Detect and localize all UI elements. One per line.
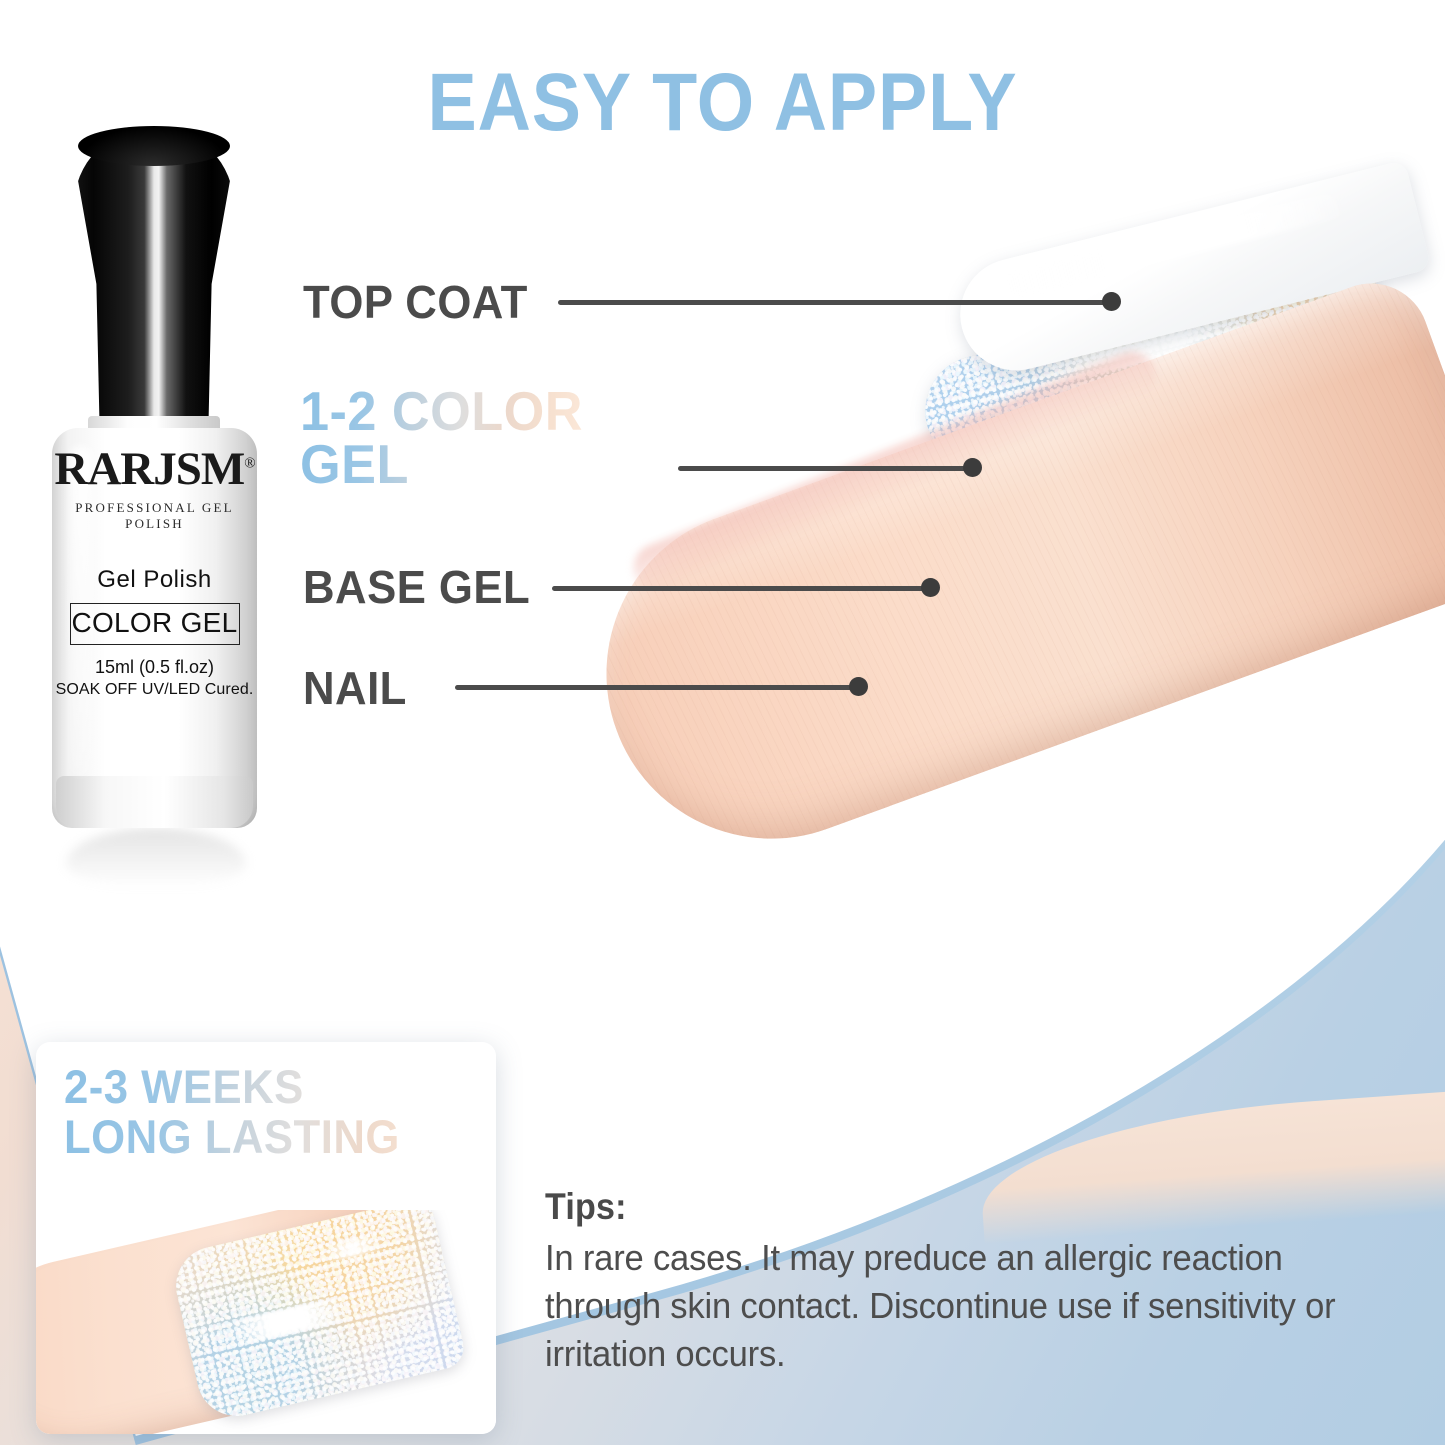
label-color-gel: 1-2 COLOR GEL [300, 385, 583, 492]
leader-line-base-gel [552, 586, 930, 591]
brand-tagline: PROFESSIONAL GEL POLISH [52, 500, 257, 532]
volume-text: 15ml (0.5 fl.oz) [52, 657, 257, 678]
registered-mark-icon: ® [244, 455, 254, 471]
infographic-canvas: EASY TO APPLY RARJSM® PROFESSIONAL GEL P… [0, 0, 1445, 1445]
leader-line-nail [455, 685, 858, 690]
cure-note-text: SOAK OFF UV/LED Cured. [52, 681, 257, 699]
product-line: Gel Polish [52, 566, 257, 594]
brand-name: RARJSM® [54, 446, 254, 493]
tips-block: Tips: In rare cases. It may preduce an a… [545, 1186, 1375, 1378]
leader-dot-color-gel [963, 458, 982, 477]
leader-dot-nail [849, 677, 868, 696]
bottle-label: RARJSM® PROFESSIONAL GEL POLISH Gel Poli… [52, 446, 257, 699]
bottle-base [56, 776, 253, 828]
label-top-coat: TOP COAT [303, 275, 528, 329]
tips-text: In rare cases. It may preduce an allergi… [545, 1234, 1342, 1378]
label-base-gel: BASE GEL [303, 560, 530, 614]
bottle-cap-top [78, 126, 230, 166]
leader-line-color-gel [678, 466, 972, 471]
product-type-box: COLOR GEL [70, 603, 240, 645]
leader-dot-base-gel [921, 578, 940, 597]
gel-polish-bottle: RARJSM® PROFESSIONAL GEL POLISH Gel Poli… [42, 128, 262, 728]
long-lasting-title: 2-3 WEEKS LONG LASTING [64, 1062, 464, 1162]
leader-dot-top-coat [1102, 292, 1121, 311]
tips-heading: Tips: [545, 1186, 1309, 1228]
long-lasting-card: 2-3 WEEKS LONG LASTING [36, 1042, 496, 1434]
leader-line-top-coat [558, 300, 1110, 305]
brand-text: RARJSM [54, 443, 244, 495]
bottle-cap [74, 128, 234, 428]
label-nail: NAIL [303, 661, 407, 715]
page-title: EASY TO APPLY [72, 56, 1373, 150]
manicure-photo [36, 1210, 496, 1434]
